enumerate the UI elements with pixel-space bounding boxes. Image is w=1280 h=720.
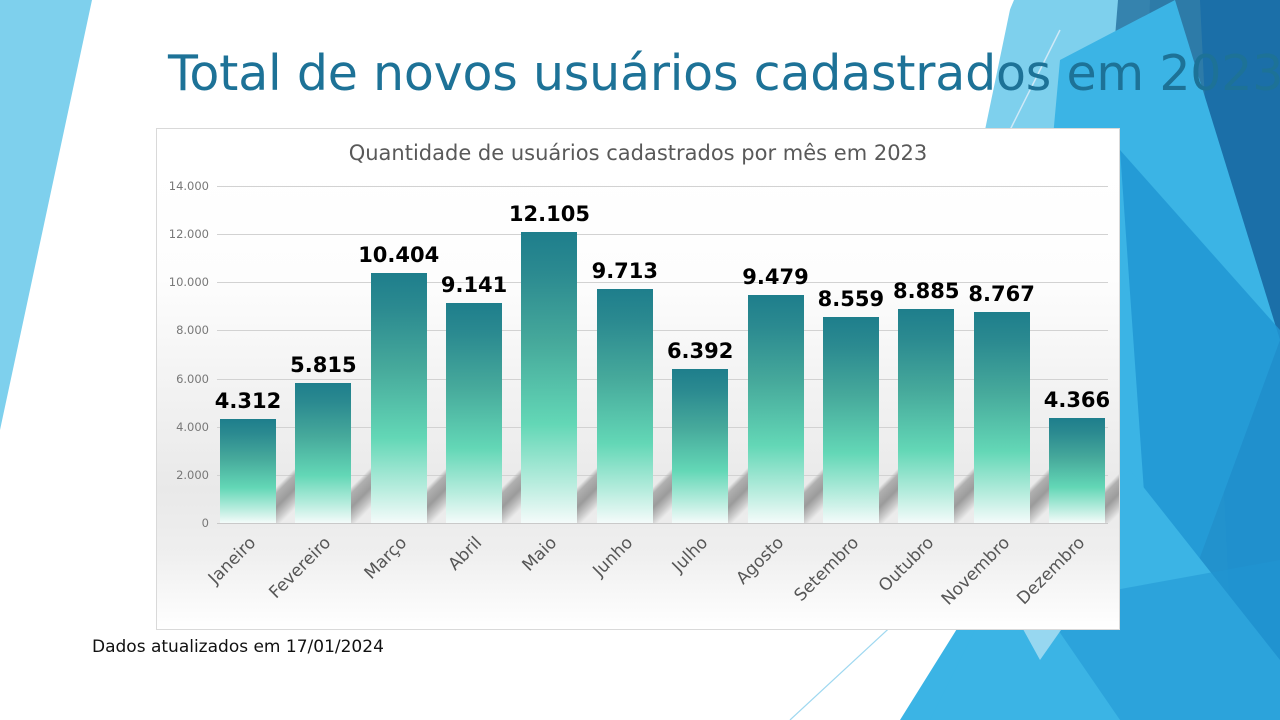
bar-value-label: 4.366 bbox=[1044, 388, 1110, 412]
bar[interactable]: 9.713 bbox=[597, 289, 653, 523]
x-label-slot: Janeiro bbox=[217, 529, 279, 629]
bar-value-label: 8.767 bbox=[968, 282, 1034, 306]
y-axis-tick-label: 12.000 bbox=[169, 227, 209, 241]
x-label-slot: Março bbox=[368, 529, 430, 629]
x-label-slot: Setembro bbox=[820, 529, 882, 629]
bar-value-label: 4.312 bbox=[215, 389, 281, 413]
y-axis-tick-label: 4.000 bbox=[176, 420, 209, 434]
x-axis-category-label: Janeiro bbox=[205, 533, 260, 588]
bar[interactable]: 8.559 bbox=[823, 317, 879, 523]
bar-value-label: 9.479 bbox=[742, 265, 808, 289]
bar-shadow bbox=[1105, 467, 1120, 523]
y-axis-tick-label: 10.000 bbox=[169, 275, 209, 289]
x-axis-category-label: Março bbox=[360, 533, 411, 584]
x-axis-category-label: Agosto bbox=[732, 533, 788, 589]
x-label-slot: Novembro bbox=[971, 529, 1033, 629]
bar-value-label: 10.404 bbox=[358, 243, 439, 267]
bar-value-label: 6.392 bbox=[667, 339, 733, 363]
x-axis-line bbox=[217, 523, 1108, 524]
bar-slot: 9.713 bbox=[594, 186, 656, 523]
bar-slot: 10.404 bbox=[368, 186, 430, 523]
bar-series: 4.3125.81510.4049.14112.1059.7136.3929.4… bbox=[217, 186, 1108, 523]
bar[interactable]: 10.404 bbox=[371, 273, 427, 523]
x-label-slot: Fevereiro bbox=[292, 529, 354, 629]
shape-left-wedge bbox=[0, 0, 92, 430]
chart-title: Quantidade de usuários cadastrados por m… bbox=[157, 141, 1119, 165]
y-axis-tick-label: 14.000 bbox=[169, 179, 209, 193]
bar-slot: 5.815 bbox=[292, 186, 354, 523]
bar-slot: 4.366 bbox=[1046, 186, 1108, 523]
bar-slot: 8.559 bbox=[820, 186, 882, 523]
y-axis-tick-label: 6.000 bbox=[176, 372, 209, 386]
x-label-slot: Abril bbox=[443, 529, 505, 629]
chart-container: Quantidade de usuários cadastrados por m… bbox=[156, 128, 1120, 630]
x-axis-category-label: Julho bbox=[669, 533, 713, 577]
bar[interactable]: 8.885 bbox=[898, 309, 954, 523]
bar-value-label: 9.713 bbox=[592, 259, 658, 283]
bar[interactable]: 9.141 bbox=[446, 303, 502, 523]
bar[interactable]: 12.105 bbox=[521, 232, 577, 523]
slide-canvas: Total de novos usuários cadastrados em 2… bbox=[0, 0, 1280, 720]
y-axis-tick-label: 2.000 bbox=[176, 468, 209, 482]
x-label-slot: Maio bbox=[518, 529, 580, 629]
x-axis-labels: JaneiroFevereiroMarçoAbrilMaioJunhoJulho… bbox=[217, 529, 1108, 629]
x-label-slot: Junho bbox=[594, 529, 656, 629]
bar[interactable]: 9.479 bbox=[748, 295, 804, 523]
bar-slot: 6.392 bbox=[669, 186, 731, 523]
x-axis-category-label: Maio bbox=[519, 533, 562, 576]
bar-slot: 9.141 bbox=[443, 186, 505, 523]
bar-value-label: 5.815 bbox=[290, 353, 356, 377]
bar-slot: 12.105 bbox=[518, 186, 580, 523]
x-label-slot: Julho bbox=[669, 529, 731, 629]
x-axis-category-label: Abril bbox=[445, 533, 487, 575]
y-axis-tick-label: 8.000 bbox=[176, 323, 209, 337]
bar-slot: 9.479 bbox=[745, 186, 807, 523]
x-axis-category-label: Junho bbox=[589, 533, 637, 581]
bar[interactable]: 4.312 bbox=[220, 419, 276, 523]
chart-plot-area: 02.0004.0006.0008.00010.00012.00014.000 … bbox=[217, 186, 1108, 523]
bar-slot: 8.885 bbox=[895, 186, 957, 523]
bar[interactable]: 5.815 bbox=[295, 383, 351, 523]
bar-value-label: 8.559 bbox=[818, 287, 884, 311]
footnote: Dados atualizados em 17/01/2024 bbox=[92, 637, 384, 657]
x-label-slot: Outubro bbox=[895, 529, 957, 629]
x-label-slot: Agosto bbox=[745, 529, 807, 629]
bar-value-label: 12.105 bbox=[509, 202, 590, 226]
x-label-slot: Dezembro bbox=[1046, 529, 1108, 629]
y-axis-tick-label: 0 bbox=[202, 516, 209, 530]
bar[interactable]: 4.366 bbox=[1049, 418, 1105, 523]
bar-value-label: 9.141 bbox=[441, 273, 507, 297]
bar[interactable]: 8.767 bbox=[974, 312, 1030, 523]
bar[interactable]: 6.392 bbox=[672, 369, 728, 523]
bar-slot: 8.767 bbox=[971, 186, 1033, 523]
bar-slot: 4.312 bbox=[217, 186, 279, 523]
x-axis-category-label: Outubro bbox=[875, 533, 938, 596]
page-title: Total de novos usuários cadastrados em 2… bbox=[168, 48, 1168, 99]
bar-value-label: 8.885 bbox=[893, 279, 959, 303]
